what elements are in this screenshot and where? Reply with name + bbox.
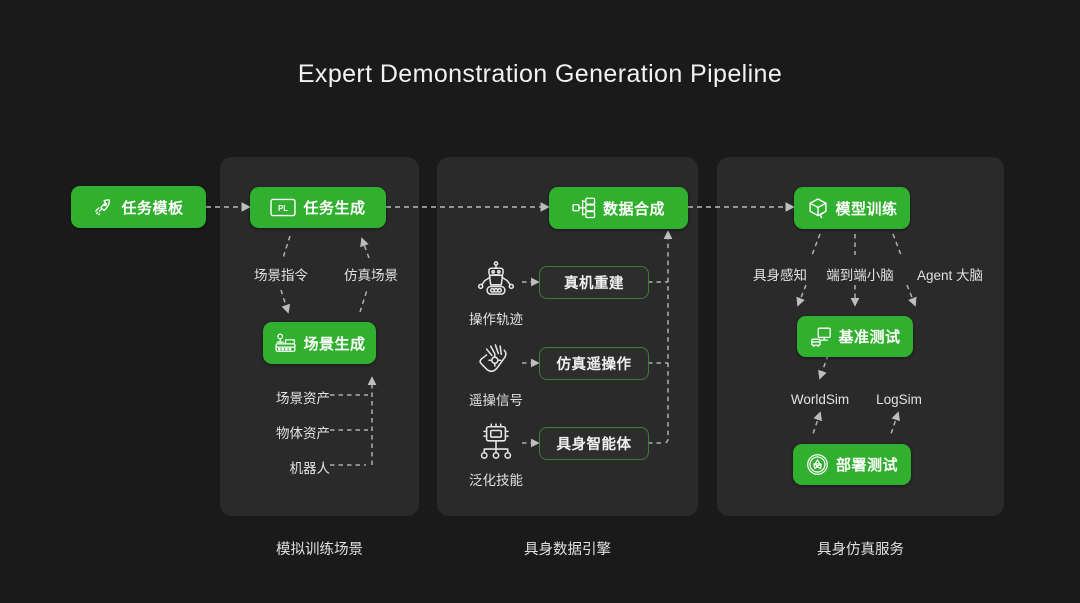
source-label-operation-trajectory: 操作轨迹 [455, 308, 537, 328]
edge-label-simulated-scene: 仿真场景 [325, 264, 417, 284]
panel-caption-simulation-training-scene: 模拟训练场景 [220, 538, 419, 559]
node-label: 任务生成 [303, 197, 365, 218]
robot-icon [473, 258, 519, 302]
lower-label-worldsim: WorldSim [778, 392, 862, 407]
node-label: 任务模板 [121, 197, 183, 218]
lower-label-logsim: LogSim [862, 392, 936, 407]
node-label: 真机重建 [564, 272, 624, 293]
panel-caption-embodied-data-engine: 具身数据引擎 [437, 538, 698, 559]
node-task-generation[interactable]: PL 任务生成 [250, 187, 386, 228]
pl-frame-icon: PL [270, 198, 296, 217]
node-task-template[interactable]: 任务模板 [71, 186, 206, 228]
node-label: 数据合成 [603, 198, 665, 219]
node-benchmark-test[interactable]: 基准测试 [797, 316, 913, 357]
mid-label-embodied-perception: 具身感知 [742, 264, 818, 284]
node-label: 仿真遥操作 [557, 353, 632, 374]
scene-robot-icon [274, 332, 297, 354]
node-scene-generation[interactable]: 场景生成 [263, 322, 376, 364]
node-label: 模型训练 [836, 198, 898, 219]
node-simulated-teleoperation[interactable]: 仿真遥操作 [539, 347, 649, 380]
input-label-object-assets: 物体资产 [238, 422, 330, 442]
node-embodied-agent[interactable]: 具身智能体 [539, 427, 649, 460]
node-label: 具身智能体 [557, 433, 632, 454]
mid-label-agent-brain: Agent 大脑 [902, 264, 998, 284]
panel-caption-embodied-simulation-service: 具身仿真服务 [717, 538, 1004, 559]
node-label: 部署测试 [836, 454, 898, 475]
node-real-machine-reconstruction[interactable]: 真机重建 [539, 266, 649, 299]
node-model-training[interactable]: 模型训练 [794, 187, 910, 229]
source-label-teleop-signal: 遥操信号 [455, 389, 537, 409]
cube-arrow-icon [807, 197, 829, 219]
edge-label-scene-instruction: 场景指令 [235, 264, 327, 284]
data-merge-icon [572, 197, 596, 219]
recycle-circle-icon [806, 453, 829, 476]
node-deployment-test[interactable]: 部署测试 [793, 444, 911, 485]
node-label: 基准测试 [839, 326, 901, 347]
node-label: 场景生成 [304, 333, 366, 354]
rocket-icon [93, 197, 114, 218]
monitor-icon [810, 326, 832, 348]
chip-network-icon [473, 420, 519, 464]
node-data-synthesis[interactable]: 数据合成 [549, 187, 688, 229]
page-title: Expert Demonstration Generation Pipeline [0, 60, 1080, 89]
input-label-scene-assets: 场景资产 [238, 387, 330, 407]
glove-icon [473, 340, 519, 384]
mid-label-end-to-end-cerebellum: 端到端小脑 [818, 264, 902, 284]
diagram-canvas: Expert Demonstration Generation Pipeline [0, 0, 1080, 603]
source-label-generalization-skill: 泛化技能 [455, 469, 537, 489]
input-label-robot: 机器人 [238, 457, 330, 477]
svg-text:PL: PL [279, 204, 289, 213]
